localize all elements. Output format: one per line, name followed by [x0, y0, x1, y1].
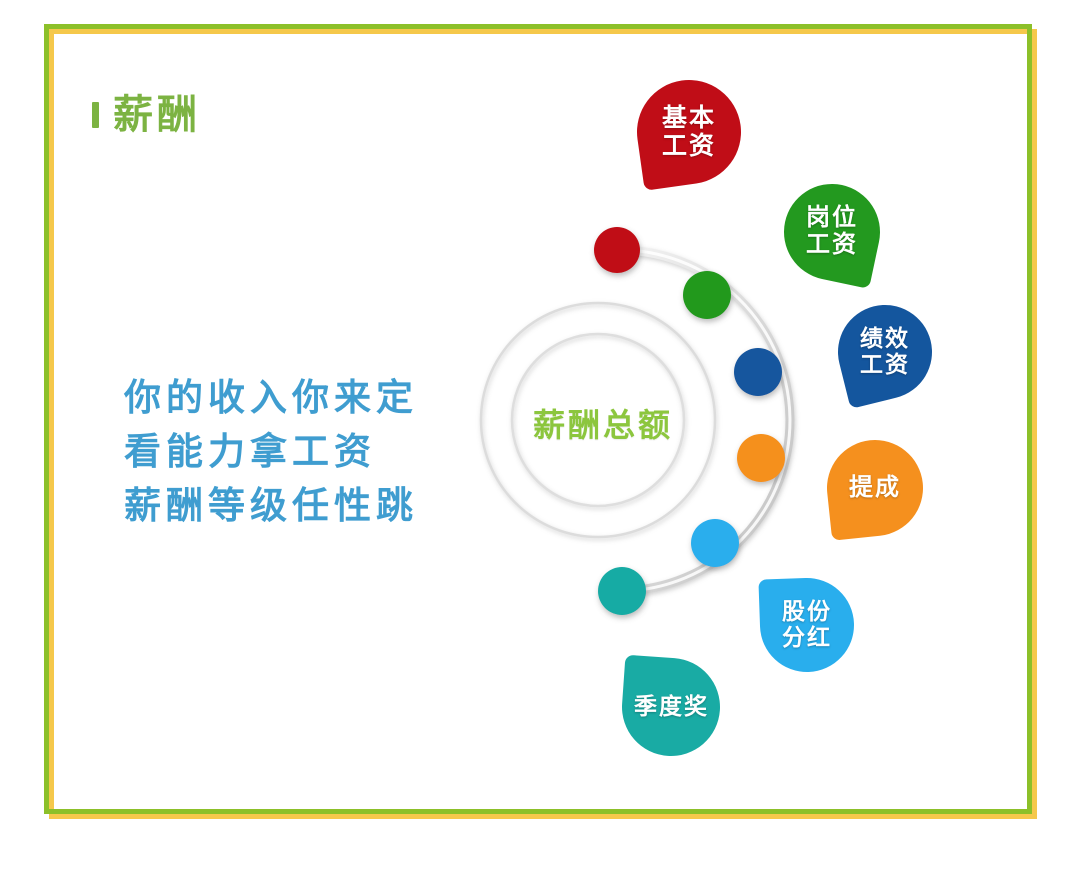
node-dot-base-salary[interactable]	[594, 227, 640, 273]
node-dot-position-salary[interactable]	[683, 271, 731, 319]
node-dot-performance-salary[interactable]	[734, 348, 782, 396]
slide-canvas: 薪酬 你的收入你来定 看能力拿工资 薪酬等级任性跳	[0, 0, 1080, 872]
slogan-line-2: 看能力拿工资	[124, 426, 418, 478]
slogan-line-1: 你的收入你来定	[124, 372, 418, 424]
badge-position-salary-line-1: 岗位	[806, 205, 858, 232]
title-accent-bar	[92, 102, 99, 128]
slogan-line-3: 薪酬等级任性跳	[124, 480, 418, 532]
badge-base-salary-line-2: 工资	[662, 132, 716, 160]
node-dot-share-dividend[interactable]	[691, 519, 739, 567]
slogan-block: 你的收入你来定 看能力拿工资 薪酬等级任性跳	[124, 372, 418, 534]
badge-share-dividend-line-2: 分红	[782, 625, 832, 651]
page-title: 薪酬	[92, 95, 201, 135]
node-dot-quarterly-bonus[interactable]	[598, 567, 646, 615]
title-text: 薪酬	[113, 95, 201, 135]
badge-performance-salary-line-1: 绩效	[860, 326, 910, 352]
node-dot-commission[interactable]	[737, 434, 785, 482]
badge-base-salary-line-1: 基本	[662, 104, 716, 132]
badge-quarterly-bonus-line-1: 季度奖	[634, 694, 709, 720]
badge-share-dividend-line-1: 股份	[782, 599, 832, 625]
center-total-label: 薪酬总额	[508, 400, 698, 446]
badge-position-salary-line-2: 工资	[806, 232, 858, 259]
badge-commission-line-1: 提成	[849, 475, 901, 502]
badge-performance-salary-line-2: 工资	[860, 352, 910, 378]
